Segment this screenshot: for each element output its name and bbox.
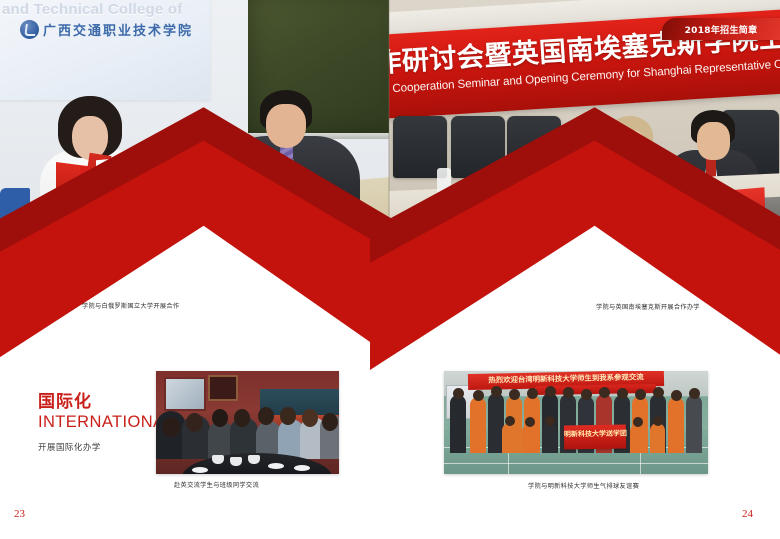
page-number-left: 23: [14, 508, 25, 520]
fruit-plate-right: [726, 216, 770, 230]
college-logo: 广西交通职业技术学院: [20, 20, 193, 39]
uk-flag-icon: [640, 179, 672, 210]
table-cups: [481, 222, 541, 236]
students-group: [156, 401, 339, 459]
projector: [288, 225, 389, 282]
desk-flags-belarus-china: [56, 162, 128, 234]
caption-students-exchange-cafe: 赴英交流学生与班级同学交流: [174, 480, 259, 489]
team-group: [444, 371, 708, 474]
water-bottle: [437, 168, 451, 222]
photo-students-exchange-cafe: [156, 371, 339, 474]
fruit-plate-left: [395, 218, 441, 232]
caption-seminar-south-essex: 学院与英国南埃塞克斯开展合作办学: [596, 302, 700, 311]
corner-tab-badge: 2018年招生简章: [662, 18, 780, 40]
photo-seminar-south-essex: 作研讨会暨英国南埃塞克斯学院上海办公室开幕 ion Cooperation Se…: [389, 0, 780, 300]
top-photo-row: and Technical College of 广西交通职业技术学院: [0, 0, 780, 300]
page-gutter: [388, 0, 390, 300]
projection-screen: and Technical College of 广西交通职业技术学院: [0, 0, 210, 100]
page-number-right: 24: [742, 508, 753, 520]
projection-slide-title: and Technical College of: [2, 1, 202, 18]
college-logo-label: 广西交通职业技术学院: [43, 20, 193, 39]
caption-signing-ceremony-belarus: 学院与白俄罗斯国立大学开展合作: [82, 301, 179, 310]
held-sign-label: 明新科技大学送学团: [564, 428, 626, 439]
college-emblem-icon: [20, 20, 39, 39]
brochure-spread: and Technical College of 广西交通职业技术学院: [0, 0, 780, 539]
photo-volleyball-friendly-match: 热烈欢迎台湾明新科技大学师生到我系参观交流: [444, 371, 708, 474]
caption-volleyball-friendly-match: 学院与明新科技大学师生气排球友谊赛: [528, 481, 639, 490]
cafe-wall-picture: [208, 375, 238, 401]
photo-signing-ceremony-belarus: and Technical College of 广西交通职业技术学院: [0, 0, 389, 300]
corner-tab-label: 2018年招生简章: [685, 23, 758, 36]
held-sign: 明新科技大学送学团: [564, 424, 626, 449]
blue-chair: [0, 188, 30, 230]
